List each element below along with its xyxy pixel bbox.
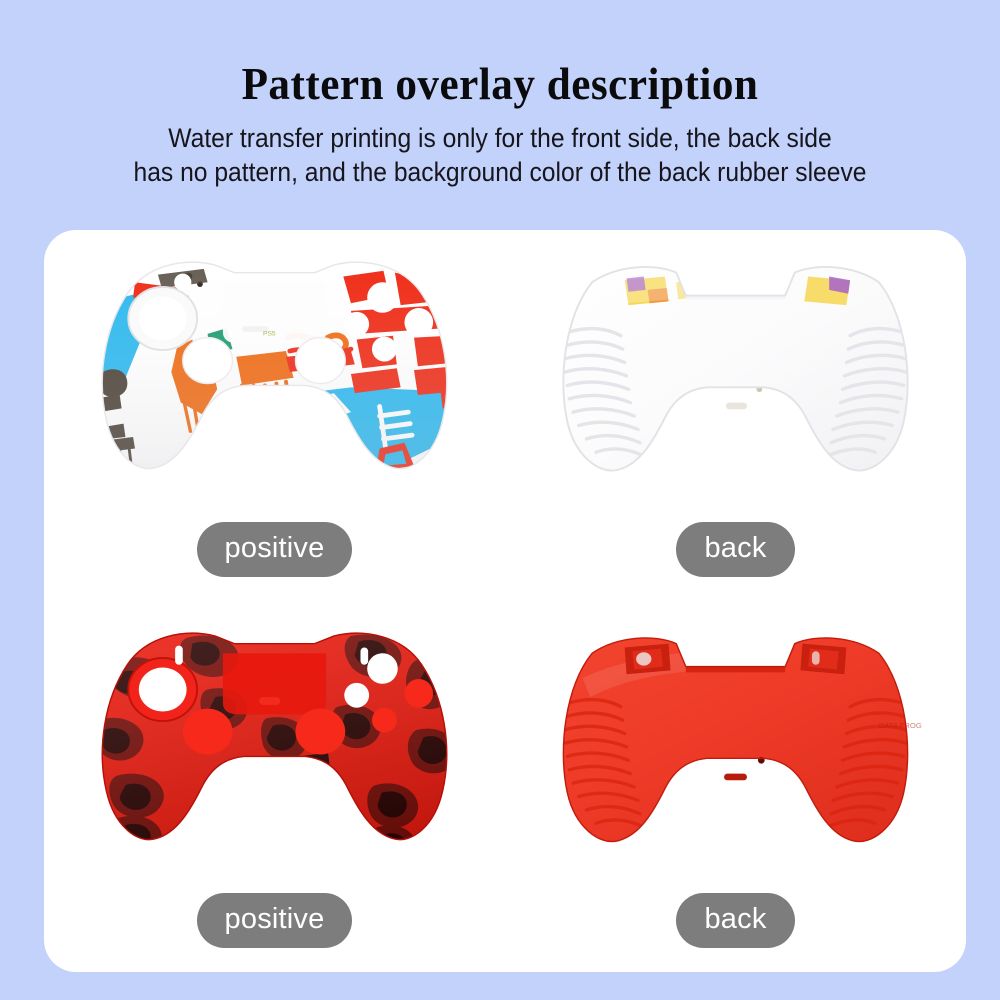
controller-image-camo-front [44, 615, 505, 873]
badge-container-graffiti-back: back [505, 522, 966, 577]
gallery-item-camo-back[interactable]: DATA FROG back [505, 601, 966, 972]
badge-container-camo-front: positive [44, 893, 505, 948]
view-badge: back [676, 893, 794, 948]
view-badge: positive [197, 893, 353, 948]
graffiti-back-illustration [505, 244, 966, 502]
view-badge: positive [197, 522, 353, 577]
controller-image-graffiti-back [505, 244, 966, 502]
badge-container-graffiti-front: positive [44, 522, 505, 577]
camo-back-illustration: DATA FROG [505, 615, 966, 873]
page-header: Pattern overlay description Water transf… [0, 0, 1000, 227]
product-gallery-card: PS5 positive [44, 230, 966, 972]
graffiti-front-illustration: PS5 [44, 244, 505, 502]
gallery-item-camo-front[interactable]: positive [44, 601, 505, 972]
gallery-item-graffiti-front[interactable]: PS5 positive [44, 230, 505, 601]
svg-text:DATA FROG: DATA FROG [879, 721, 922, 730]
gallery-item-graffiti-back[interactable]: back [505, 230, 966, 601]
camo-front-illustration [44, 615, 505, 873]
page-subtitle: Water transfer printing is only for the … [35, 121, 965, 189]
svg-text:PS5: PS5 [263, 331, 276, 338]
view-badge: back [676, 522, 794, 577]
controller-image-camo-back: DATA FROG [505, 615, 966, 873]
page-title: Pattern overlay description [20, 58, 980, 110]
badge-container-camo-back: back [505, 893, 966, 948]
gallery-grid: PS5 positive [44, 230, 966, 972]
controller-image-graffiti-front: PS5 [44, 244, 505, 502]
